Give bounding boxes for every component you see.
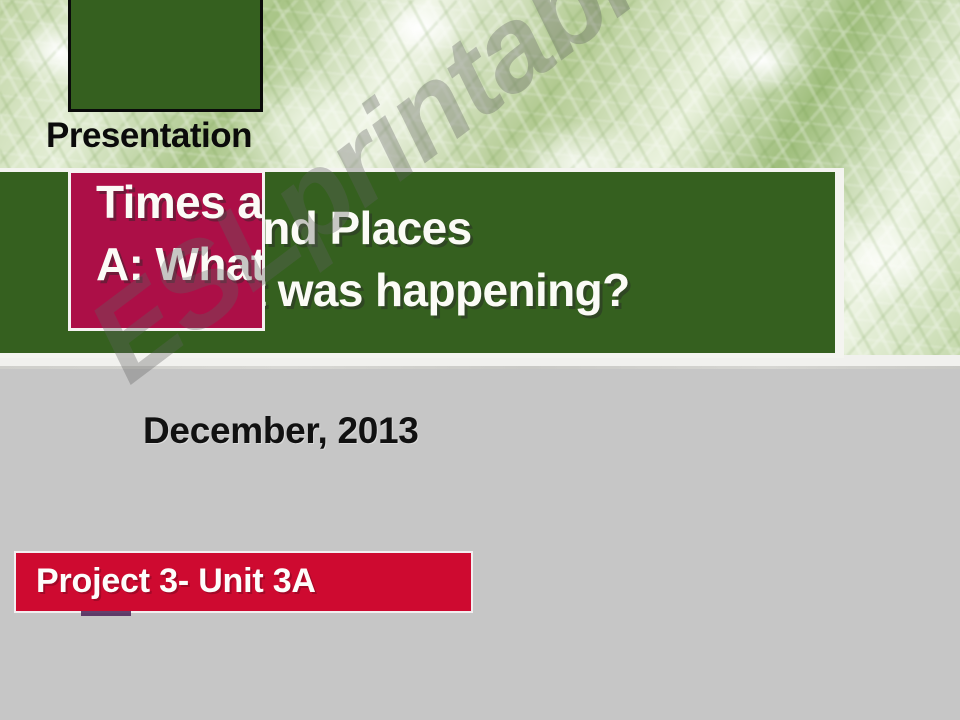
banner-underline-artifact bbox=[81, 611, 131, 616]
slide-date: December, 2013 bbox=[143, 410, 663, 452]
crimson-block-title-clip: Times and Places A: What was happening? bbox=[96, 171, 265, 295]
green-logo-box bbox=[68, 0, 263, 112]
crimson-accent-block: Times and Places A: What was happening? bbox=[68, 170, 265, 331]
project-banner: Project 3- Unit 3A bbox=[14, 551, 473, 613]
crimson-title-line-1: Times and Places bbox=[96, 171, 265, 233]
presentation-label: Presentation bbox=[46, 114, 346, 158]
crimson-title-line-2: A: What was happening? bbox=[96, 233, 265, 295]
presentation-slide: Presentation Times and Places A: What wa… bbox=[0, 0, 960, 720]
project-banner-label: Project 3- Unit 3A bbox=[36, 562, 316, 601]
